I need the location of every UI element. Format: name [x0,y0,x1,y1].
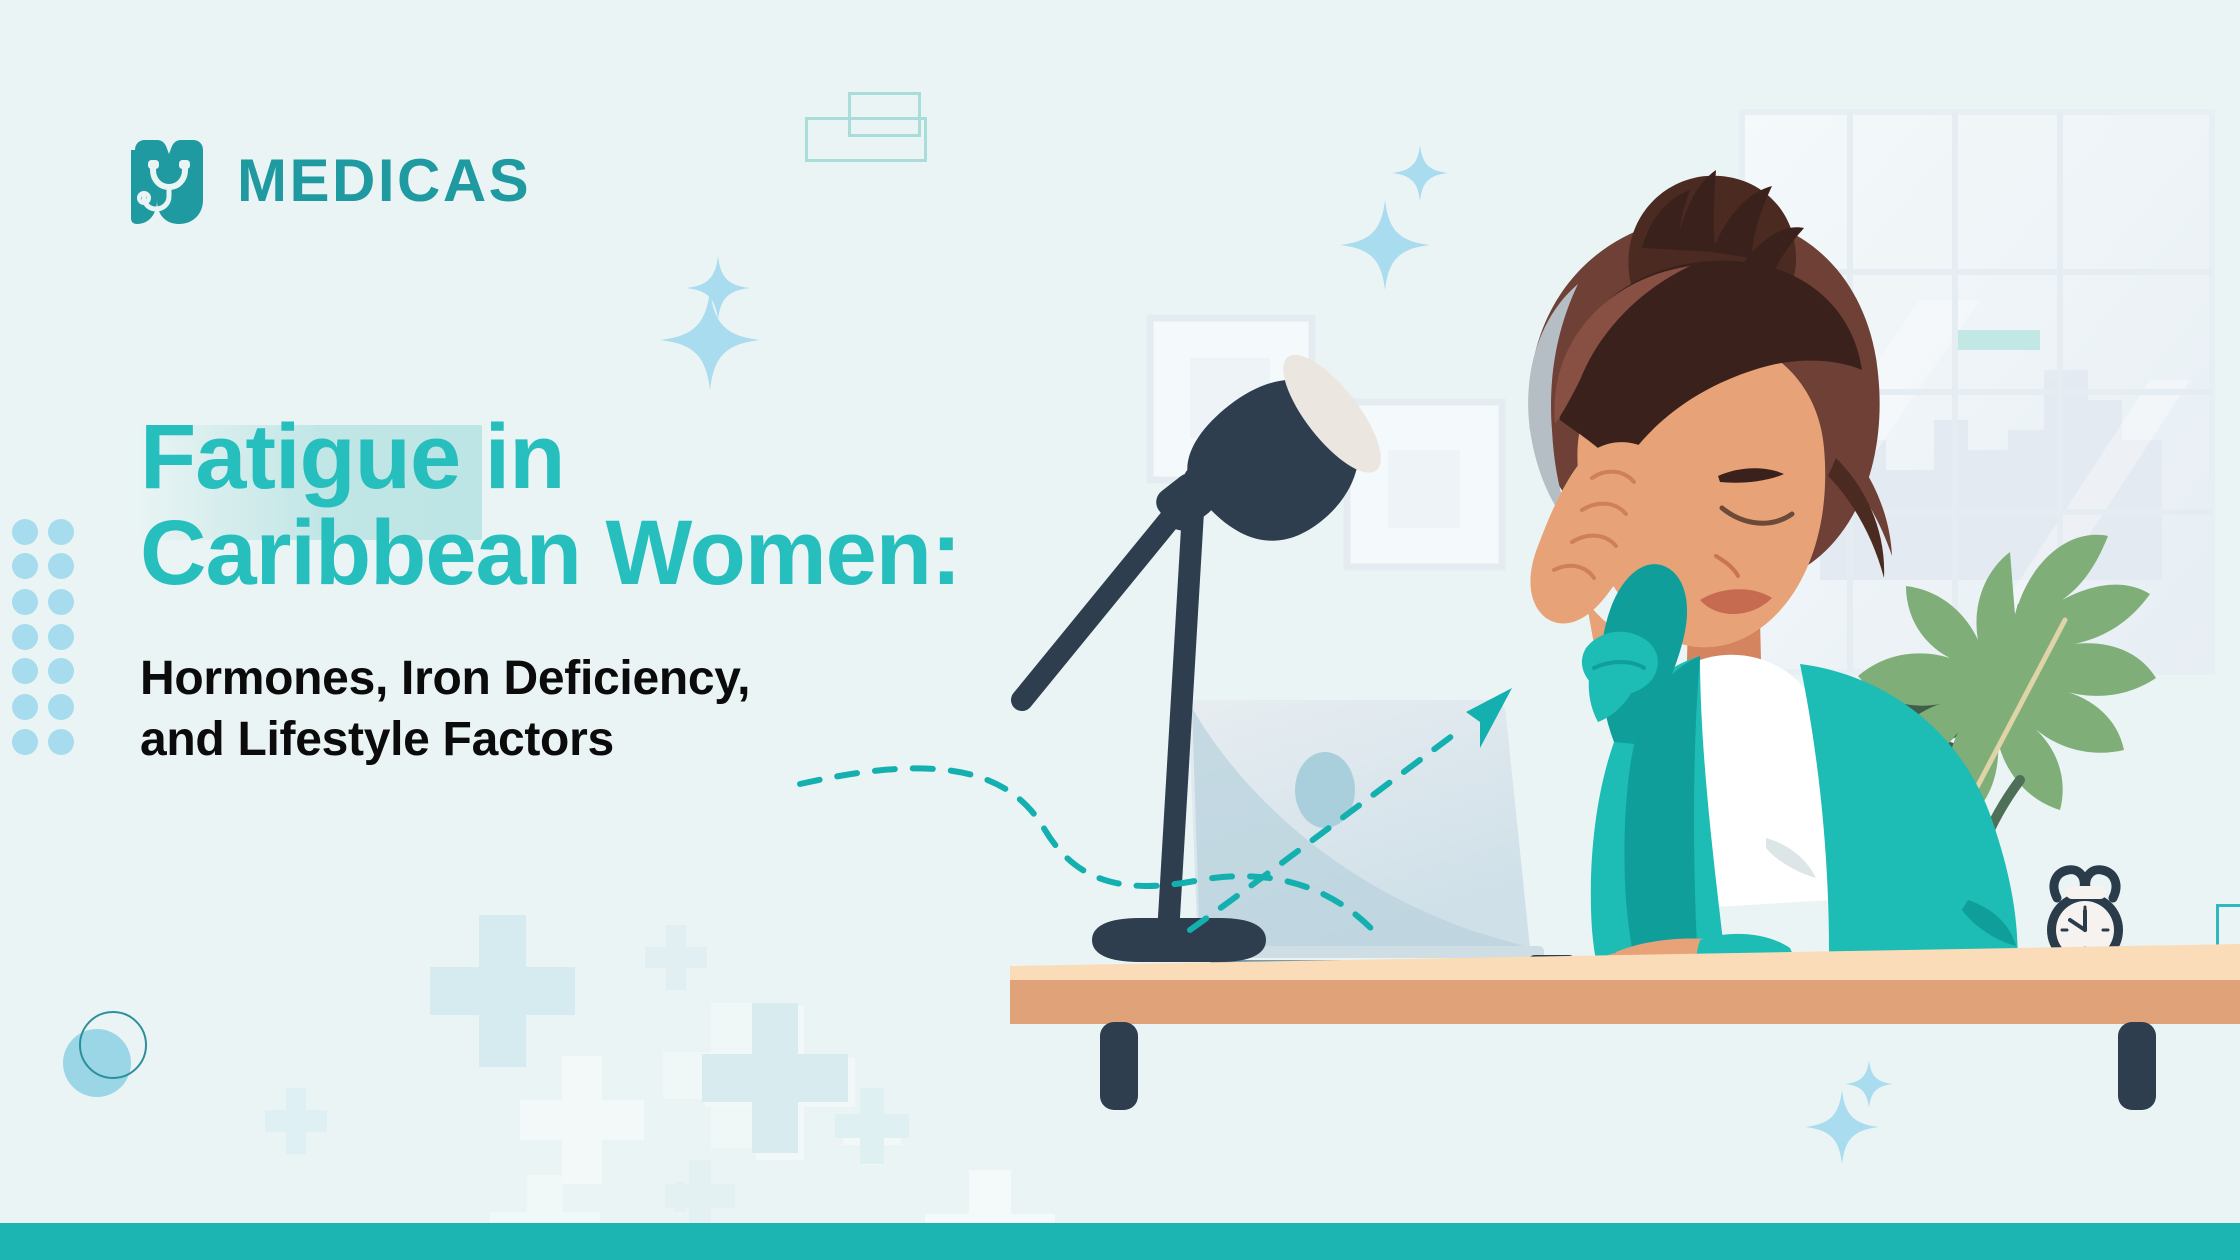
bottom-accent-bar [0,1223,2240,1260]
wooden-desk [1010,944,2240,1110]
stethoscope-m-icon [127,136,211,226]
subheadline-line-2: and Lifestyle Factors [140,709,1040,770]
subheadline-line-1: Hormones, Iron Deficiency, [140,648,1040,709]
brand-name: MEDICAS [237,151,531,211]
brand-logo[interactable]: MEDICAS [127,136,531,226]
hero-headline-block: Fatigue in Caribbean Women: [140,410,1140,601]
headline-line-2: Caribbean Women: [140,506,1140,602]
hero-banner: MEDICAS Fatigue in Caribbean Women: Horm… [0,0,2240,1260]
headline-line-1: Fatigue in [140,410,1140,506]
hero-subheadline-block: Hormones, Iron Deficiency, and Lifestyle… [140,648,1040,771]
